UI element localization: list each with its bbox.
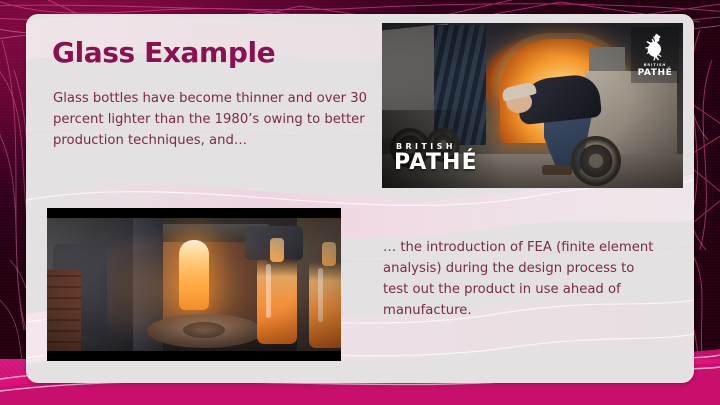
body-text-left: Glass bottles have become thinner and ov…: [53, 89, 373, 152]
british-pathe-watermark: BRITISH PATHÉ: [394, 142, 478, 174]
page-title: Glass Example: [52, 36, 275, 69]
rooster-icon: [642, 32, 668, 62]
bottle-forming-machine-video[interactable]: [47, 208, 341, 361]
logo-pathe-label: PATHÉ: [638, 68, 673, 78]
bottle-machine-scene: [47, 218, 341, 351]
logo-british-label: BRITISH: [644, 63, 667, 67]
british-pathe-corner-logo: BRITISH PATHÉ: [631, 27, 679, 83]
watermark-pathe-label: PATHÉ: [394, 151, 478, 174]
body-text-right: … the introduction of FEA (finite elemen…: [383, 238, 658, 321]
glass-furnace-worker-video[interactable]: BRITISH PATHÉ BRITISH PATHÉ: [382, 23, 683, 188]
slide: Glass Example Glass bottles have become …: [0, 0, 720, 405]
